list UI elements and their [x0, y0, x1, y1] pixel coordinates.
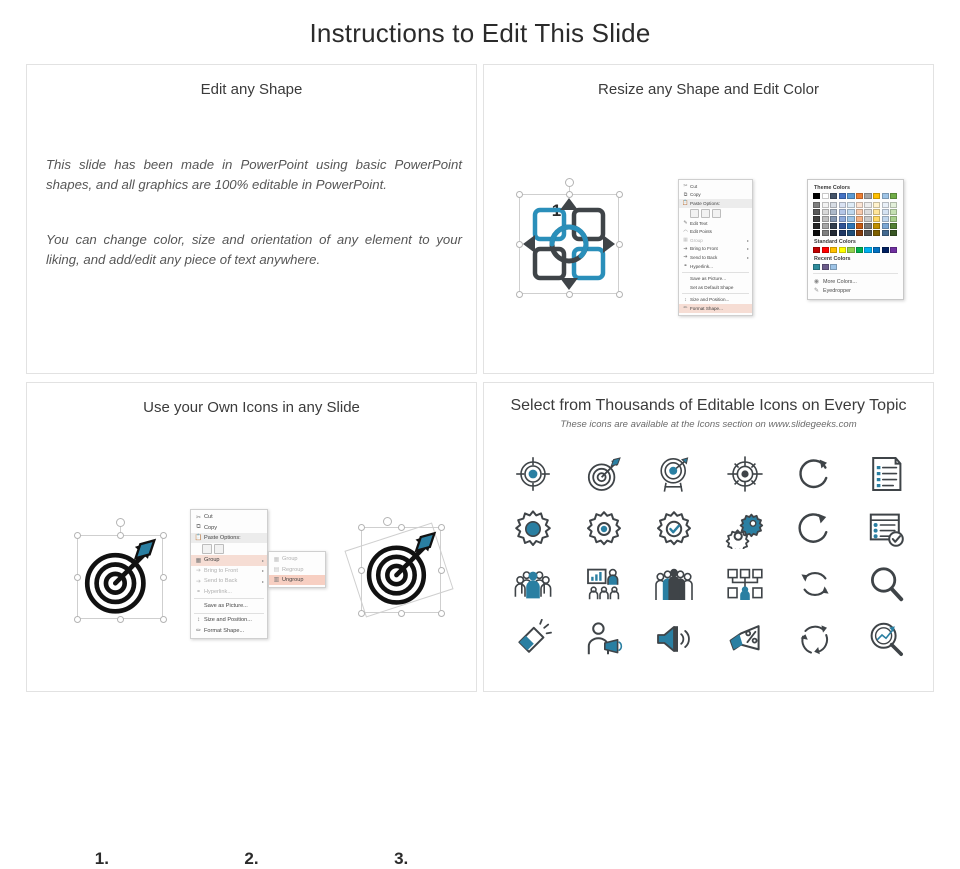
paste-picture-icon[interactable] — [701, 209, 710, 218]
resize-handle-n[interactable] — [398, 524, 405, 531]
color-swatch[interactable] — [890, 247, 897, 253]
color-swatch[interactable] — [830, 223, 837, 229]
eyedropper-icon: ✎ — [813, 287, 820, 294]
panel-title-edit-shape: Edit any Shape — [27, 81, 476, 98]
page-title: Instructions to Edit This Slide — [0, 18, 960, 49]
slide-canvas: Instructions to Edit This Slide Edit any… — [0, 0, 960, 720]
own-icons-steps-row: 1. 2. 3. — [27, 849, 476, 869]
target-with-arrow-icon — [80, 538, 160, 616]
color-swatch[interactable] — [873, 247, 880, 253]
paste-option-buttons[interactable] — [679, 208, 752, 219]
menu-item-format-shape[interactable]: ✏Format Shape... — [191, 626, 267, 636]
menu-item-hyperlink[interactable]: ⚭Hyperlink... — [191, 586, 267, 596]
color-swatch[interactable] — [813, 216, 820, 222]
resize-handle-sw[interactable] — [74, 616, 81, 623]
menu-item-group[interactable]: ▦Group▸ — [679, 236, 752, 245]
recent-colors-label: Recent Colors — [814, 256, 898, 262]
theme-swatch-row[interactable] — [813, 216, 898, 222]
color-swatch[interactable] — [890, 230, 897, 236]
menu-separator — [682, 272, 749, 273]
color-swatch[interactable] — [813, 264, 820, 270]
color-swatch[interactable] — [839, 193, 846, 199]
theme-swatch-row[interactable] — [813, 223, 898, 229]
document-check-icon — [866, 509, 906, 549]
color-swatch[interactable] — [822, 247, 829, 253]
color-swatch[interactable] — [856, 223, 863, 229]
color-swatch[interactable] — [813, 202, 820, 208]
menu-item-edit-text[interactable]: ✎Edit Text — [679, 219, 752, 228]
color-swatch[interactable] — [882, 216, 889, 222]
color-swatch[interactable] — [847, 230, 854, 236]
target-stand-icon — [654, 454, 694, 494]
color-swatch[interactable] — [830, 247, 837, 253]
double-gear-icon — [725, 509, 765, 549]
resize-handle-s[interactable] — [398, 610, 405, 617]
icon-team-people[interactable] — [639, 561, 710, 606]
color-swatch[interactable] — [890, 202, 897, 208]
icon-circular-arrow[interactable] — [780, 506, 851, 551]
icon-checklist-document[interactable] — [851, 451, 922, 496]
edit-points-icon: ◠ — [681, 229, 690, 235]
color-swatch[interactable] — [882, 230, 889, 236]
menu-item-set-default-shape[interactable]: Set as Default Shape — [679, 283, 752, 292]
color-swatch[interactable] — [813, 247, 820, 253]
format-shape-icon: ✏ — [681, 305, 690, 311]
chevron-right-icon: ▸ — [260, 568, 264, 573]
hyperlink-icon: ⚭ — [193, 588, 204, 595]
color-swatch[interactable] — [847, 247, 854, 253]
color-swatch[interactable] — [873, 209, 880, 215]
color-swatch[interactable] — [839, 223, 846, 229]
resize-handle-ne[interactable] — [438, 524, 445, 531]
magnifier-target-icon — [866, 619, 906, 659]
panel-title-editable-icons: Select from Thousands of Editable Icons … — [484, 397, 933, 415]
color-swatch[interactable] — [890, 223, 897, 229]
color-swatch[interactable] — [839, 230, 846, 236]
panel-own-icons: Use your Own Icons in any Slide 1. 2. 3. — [26, 382, 477, 692]
menu-item-cut[interactable]: ✂Cut — [679, 182, 752, 191]
own-icon-figure-rotated[interactable] — [343, 513, 458, 625]
color-swatch[interactable] — [882, 209, 889, 215]
four-squares-resize-handles-icon — [519, 194, 619, 294]
resize-figure-shape-selected[interactable] — [509, 178, 629, 308]
powerpoint-context-menu[interactable]: ✂Cut ⧉Copy 📋Paste Options: ✎Edit Text ◠E… — [678, 179, 753, 316]
color-swatch[interactable] — [822, 230, 829, 236]
target-with-arrow-rotated-icon — [362, 531, 440, 607]
theme-colors-label: Theme Colors — [814, 185, 898, 191]
color-swatch[interactable] — [847, 209, 854, 215]
panel-edit-any-shape: Edit any Shape This slide has been made … — [26, 64, 477, 374]
step-number-1: 1. — [27, 849, 177, 869]
chevron-right-icon: ▸ — [260, 579, 264, 584]
menu-item-size-and-position[interactable]: ↕Size and Position... — [191, 615, 267, 625]
presentation-meeting-icon — [584, 564, 624, 604]
paste-keep-formatting-icon[interactable] — [690, 209, 699, 218]
menu-item-hyperlink[interactable]: ⚭Hyperlink... — [679, 262, 752, 271]
color-swatch[interactable] — [830, 264, 837, 270]
theme-swatch-row[interactable] — [813, 202, 898, 208]
color-swatch[interactable] — [864, 230, 871, 236]
gear-filled-icon — [513, 509, 553, 549]
resize-handle-s[interactable] — [117, 616, 124, 623]
bring-front-icon: ➔ — [193, 567, 204, 574]
submenu-item-group[interactable]: ▦Group — [269, 554, 325, 564]
paste-picture-icon[interactable] — [214, 544, 224, 554]
edit-text-icon: ✎ — [681, 220, 690, 226]
own-icon-figure-selected[interactable] — [69, 515, 179, 625]
group-icon: ▦ — [193, 557, 204, 564]
menu-item-edit-points[interactable]: ◠Edit Points — [679, 227, 752, 236]
icon-presentation-meeting[interactable] — [569, 561, 640, 606]
color-swatch[interactable] — [856, 216, 863, 222]
icon-sync-arrows[interactable] — [780, 561, 851, 606]
panel-resize-shape: Resize any Shape and Edit Color 1. 2. 3. — [483, 64, 934, 374]
cut-icon: ✂ — [193, 514, 204, 521]
color-swatch[interactable] — [813, 223, 820, 229]
color-swatch[interactable] — [882, 247, 889, 253]
format-shape-icon: ✏ — [193, 627, 204, 634]
color-swatch[interactable] — [890, 209, 897, 215]
menu-item-send-to-back[interactable]: ➔Send to Back▸ — [191, 576, 267, 586]
paste-keep-formatting-icon[interactable] — [202, 544, 212, 554]
resize-handle-sw[interactable] — [358, 610, 365, 617]
color-swatch[interactable] — [839, 216, 846, 222]
step-number-3: 3. — [326, 849, 476, 869]
color-swatch[interactable] — [873, 193, 880, 199]
color-swatch[interactable] — [830, 209, 837, 215]
crosshair-dark-icon — [725, 454, 765, 494]
icon-double-gear[interactable] — [710, 506, 781, 551]
refresh-arrow-icon — [795, 454, 835, 494]
body-paragraph-2: You can change color, size and orientati… — [46, 230, 462, 271]
color-swatch[interactable] — [822, 264, 829, 270]
crosshair-target-icon — [513, 454, 553, 494]
circular-arrows-icon — [795, 619, 835, 659]
checklist-document-icon — [866, 454, 906, 494]
resize-handle-se[interactable] — [160, 616, 167, 623]
icon-target-stand[interactable] — [639, 451, 710, 496]
color-swatch[interactable] — [813, 230, 820, 236]
color-swatch[interactable] — [882, 193, 889, 199]
circular-arrow-icon — [795, 509, 835, 549]
icon-magnifier-target[interactable] — [851, 616, 922, 661]
icon-speaker-sound[interactable] — [639, 616, 710, 661]
panel-title-resize-shape: Resize any Shape and Edit Color — [484, 81, 933, 98]
team-people-icon — [654, 564, 694, 604]
icon-person-megaphone[interactable] — [569, 616, 640, 661]
menu-item-copy[interactable]: ⧉Copy — [191, 522, 267, 532]
theme-colors-swatches[interactable] — [813, 193, 898, 236]
color-swatch[interactable] — [856, 193, 863, 199]
menu-item-group[interactable]: ▦Group▸ — [191, 555, 267, 565]
panel-editable-icons: Select from Thousands of Editable Icons … — [483, 382, 934, 692]
copy-icon: ⧉ — [193, 524, 204, 531]
recent-colors-swatches[interactable] — [813, 264, 898, 270]
menu-separator — [682, 293, 749, 294]
color-swatch[interactable] — [822, 193, 829, 199]
powerpoint-context-menu-group[interactable]: ✂Cut ⧉Copy 📋Paste Options: ▦Group▸ ➔Brin… — [190, 509, 268, 639]
menu-item-cut[interactable]: ✂Cut — [191, 512, 267, 522]
chevron-right-icon: ▸ — [745, 246, 749, 251]
paste-icon: 📋 — [193, 534, 204, 541]
icon-org-chart-team[interactable] — [710, 561, 781, 606]
resize-handle-e[interactable] — [160, 574, 167, 581]
icon-gear-check[interactable] — [639, 506, 710, 551]
standard-colors-label: Standard Colors — [814, 239, 898, 245]
color-swatch[interactable] — [890, 193, 897, 199]
color-swatch[interactable] — [864, 247, 871, 253]
menu-item-bring-to-front[interactable]: ➔Bring to Front▸ — [191, 566, 267, 576]
size-position-icon: ↕ — [681, 297, 690, 303]
regroup-icon: ▤ — [271, 566, 282, 573]
copy-icon: ⧉ — [681, 192, 690, 198]
icon-gallery-grid — [498, 451, 921, 661]
color-swatch[interactable] — [822, 209, 829, 215]
icon-people-group[interactable] — [498, 561, 569, 606]
target-arrow-icon — [584, 454, 624, 494]
megaphone-icon — [513, 619, 553, 659]
group-icon: ▦ — [681, 237, 690, 243]
color-swatch[interactable] — [839, 202, 846, 208]
size-position-icon: ↕ — [193, 617, 204, 623]
menu-item-format-shape[interactable]: ✏Format Shape... — [679, 304, 752, 313]
color-swatch[interactable] — [882, 223, 889, 229]
color-swatch[interactable] — [847, 202, 854, 208]
color-swatch[interactable] — [873, 230, 880, 236]
paste-option-buttons[interactable] — [191, 543, 267, 555]
submenu-item-regroup[interactable]: ▤Regroup — [269, 564, 325, 574]
theme-swatch-row[interactable] — [813, 193, 898, 199]
color-swatch[interactable] — [822, 223, 829, 229]
hyperlink-icon: ⚭ — [681, 263, 690, 269]
menu-separator — [194, 613, 264, 614]
color-swatch[interactable] — [847, 223, 854, 229]
icon-refresh-arrow[interactable] — [780, 451, 851, 496]
palette-icon: ◉ — [813, 278, 820, 285]
menu-item-size-and-position[interactable]: ↕Size and Position... — [679, 296, 752, 305]
send-back-icon: ➔ — [193, 578, 204, 585]
picker-separator — [813, 273, 898, 274]
color-swatch[interactable] — [864, 209, 871, 215]
icon-magnifier[interactable] — [851, 561, 922, 606]
color-swatch[interactable] — [882, 202, 889, 208]
icon-document-check[interactable] — [851, 506, 922, 551]
menu-item-copy[interactable]: ⧉Copy — [679, 191, 752, 200]
color-swatch[interactable] — [864, 193, 871, 199]
menu-item-send-to-back[interactable]: ➔Send to Back▸ — [679, 253, 752, 262]
color-picker-dropdown[interactable]: Theme Colors Standard Colors Recent Colo… — [807, 179, 904, 300]
rotate-handle[interactable] — [383, 517, 392, 526]
color-swatch[interactable] — [856, 209, 863, 215]
menu-item-save-as-picture[interactable]: Save as Picture... — [191, 601, 267, 611]
person-megaphone-icon — [584, 619, 624, 659]
cut-icon: ✂ — [681, 183, 690, 189]
color-swatch[interactable] — [864, 223, 871, 229]
color-swatch[interactable] — [830, 230, 837, 236]
color-swatch[interactable] — [847, 193, 854, 199]
color-swatch[interactable] — [856, 202, 863, 208]
color-swatch[interactable] — [813, 193, 820, 199]
icon-target-arrow[interactable] — [569, 451, 640, 496]
color-swatch[interactable] — [822, 216, 829, 222]
menu-item-save-as-picture[interactable]: Save as Picture... — [679, 274, 752, 283]
icon-crosshair-dark[interactable] — [710, 451, 781, 496]
org-chart-team-icon — [725, 564, 765, 604]
color-swatch[interactable] — [813, 209, 820, 215]
theme-swatch-row[interactable] — [813, 230, 898, 236]
send-back-icon: ➔ — [681, 254, 690, 260]
color-swatch[interactable] — [839, 247, 846, 253]
chevron-right-icon: ▸ — [260, 558, 264, 563]
color-swatch[interactable] — [864, 202, 871, 208]
group-submenu[interactable]: ▦Group ▤Regroup ▥Ungroup — [268, 551, 326, 588]
color-swatch[interactable] — [873, 223, 880, 229]
more-colors-button[interactable]: ◉More Colors... — [813, 277, 898, 286]
menu-separator — [194, 598, 264, 599]
gear-outline-icon — [584, 509, 624, 549]
color-swatch[interactable] — [830, 202, 837, 208]
rotate-handle[interactable] — [116, 518, 125, 527]
paste-keep-text-icon[interactable] — [712, 209, 721, 218]
color-swatch[interactable] — [830, 216, 837, 222]
color-swatch[interactable] — [864, 216, 871, 222]
panel-subtitle-editable-icons: These icons are available at the Icons s… — [484, 419, 933, 430]
panel-title-own-icons: Use your Own Icons in any Slide — [27, 399, 476, 416]
icon-megaphone-percent[interactable] — [710, 616, 781, 661]
eyedropper-button[interactable]: ✎Eyedropper — [813, 286, 898, 295]
resize-handle-nw[interactable] — [358, 524, 365, 531]
icon-gear-filled[interactable] — [498, 506, 569, 551]
color-swatch[interactable] — [847, 216, 854, 222]
icon-megaphone[interactable] — [498, 616, 569, 661]
submenu-item-ungroup[interactable]: ▥Ungroup — [269, 575, 325, 585]
magnifier-icon — [866, 564, 906, 604]
standard-colors-swatches[interactable] — [813, 247, 898, 253]
icon-circular-arrows[interactable] — [780, 616, 851, 661]
step-number-2: 2. — [177, 849, 327, 869]
ungroup-icon: ▥ — [271, 576, 282, 583]
icon-gear-outline[interactable] — [569, 506, 640, 551]
color-swatch[interactable] — [830, 193, 837, 199]
color-swatch[interactable] — [856, 247, 863, 253]
group-icon: ▦ — [271, 556, 282, 563]
people-group-icon — [513, 564, 553, 604]
color-swatch[interactable] — [856, 230, 863, 236]
resize-handle-ne[interactable] — [160, 532, 167, 539]
icon-crosshair-target[interactable] — [498, 451, 569, 496]
color-swatch[interactable] — [873, 202, 880, 208]
theme-swatch-row[interactable] — [813, 209, 898, 215]
paste-icon: 📋 — [681, 200, 690, 206]
resize-handle-se[interactable] — [438, 610, 445, 617]
bring-front-icon: ➔ — [681, 246, 690, 252]
rotate-handle[interactable] — [565, 178, 574, 187]
color-swatch[interactable] — [873, 216, 880, 222]
gear-check-icon — [654, 509, 694, 549]
menu-item-paste-options[interactable]: 📋Paste Options: — [679, 199, 752, 208]
menu-item-bring-to-front[interactable]: ➔Bring to Front▸ — [679, 245, 752, 254]
speaker-sound-icon — [654, 619, 694, 659]
chevron-right-icon: ▸ — [745, 255, 749, 260]
color-swatch[interactable] — [890, 216, 897, 222]
color-swatch[interactable] — [839, 209, 846, 215]
megaphone-percent-icon — [725, 619, 765, 659]
menu-item-paste-options[interactable]: 📋Paste Options: — [191, 533, 267, 543]
color-swatch[interactable] — [822, 202, 829, 208]
chevron-right-icon: ▸ — [745, 238, 749, 243]
sync-arrows-icon — [795, 564, 835, 604]
body-paragraph-1: This slide has been made in PowerPoint u… — [46, 155, 462, 196]
